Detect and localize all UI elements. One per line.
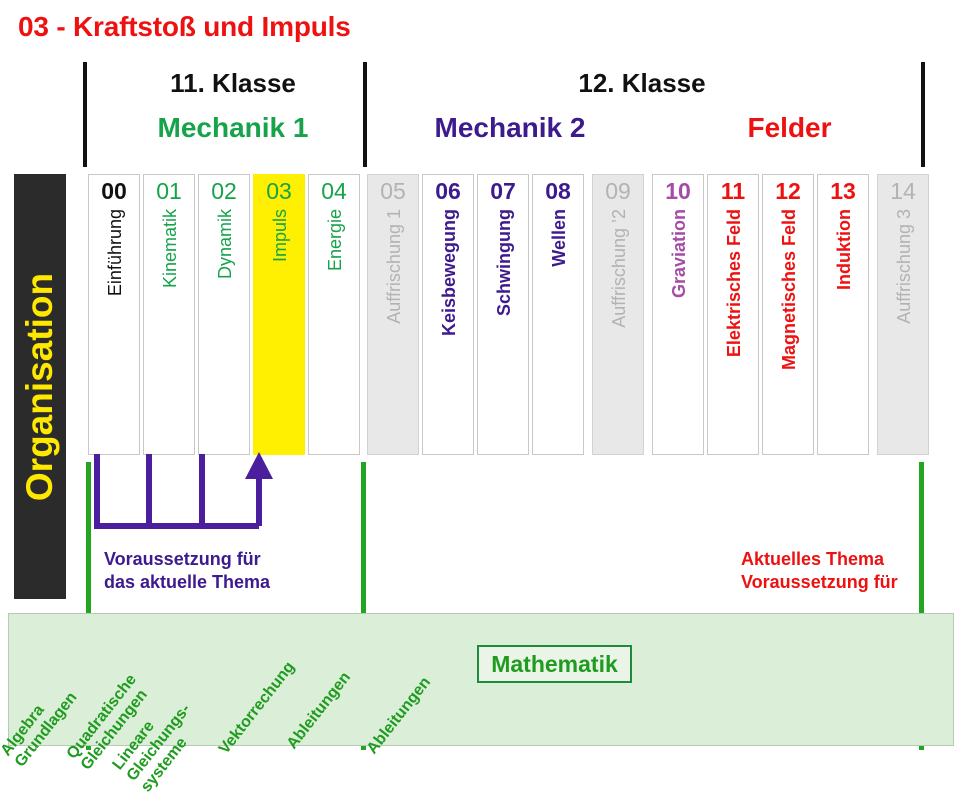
topic-name-14: Auffrischung 3 — [895, 209, 913, 324]
topic-name-04: Energie — [326, 209, 344, 271]
topic-name-wrap-03: Impuls — [254, 209, 306, 452]
organisation-label: Organisation — [19, 272, 61, 500]
organisation-sidebar[interactable]: Organisation — [14, 174, 66, 599]
topic-column-09[interactable]: 09 Auffrischung ’2 — [592, 174, 644, 455]
grade-label-11: 11. Klasse — [104, 68, 362, 99]
topic-name-wrap-05: Auffrischung 1 — [368, 209, 420, 452]
header-divider-right — [921, 62, 925, 167]
current-topic-caption-line2: Voraussetzung für — [741, 571, 898, 594]
topic-column-06[interactable]: 06 Keisbewegung — [422, 174, 474, 455]
topic-name-wrap-00: Einführung — [89, 209, 141, 452]
subject-label-mechanik-2: Mechanik 2 — [365, 112, 655, 144]
topic-column-08[interactable]: 08 Wellen — [532, 174, 584, 455]
topic-name-wrap-06: Keisbewegung — [423, 209, 475, 452]
topic-number-09: 09 — [593, 178, 643, 204]
topic-column-14[interactable]: 14 Auffrischung 3 — [877, 174, 929, 455]
prerequisite-caption: Voraussetzung für das aktuelle Thema — [104, 548, 270, 594]
topic-name-wrap-01: Kinematik — [144, 209, 196, 452]
current-topic-caption-line1: Aktuelles Thema — [741, 548, 898, 571]
topic-column-11[interactable]: 11 Elektrisches Feld — [707, 174, 759, 455]
mathematik-box-label: Mathematik — [479, 647, 630, 681]
topic-name-09: Auffrischung ’2 — [610, 209, 628, 328]
mathematik-box[interactable]: Mathematik — [477, 645, 632, 683]
prerequisite-caption-line2: das aktuelle Thema — [104, 571, 270, 594]
current-topic-caption: Aktuelles Thema Voraussetzung für — [741, 548, 898, 594]
topic-name-wrap-11: Elektrisches Feld — [708, 209, 760, 452]
topic-name-11: Elektrisches Feld — [725, 209, 743, 357]
topic-name-08: Wellen — [550, 209, 568, 267]
topic-name-wrap-14: Auffrischung 3 — [878, 209, 930, 452]
topic-number-13: 13 — [818, 178, 868, 204]
topic-number-11: 11 — [708, 178, 758, 204]
prerequisite-bracket — [86, 452, 306, 532]
topic-name-wrap-07: Schwingung — [478, 209, 530, 452]
topic-number-04: 04 — [309, 178, 359, 204]
topic-number-06: 06 — [423, 178, 473, 204]
topic-number-00: 00 — [89, 178, 139, 204]
topic-number-12: 12 — [763, 178, 813, 204]
topic-number-02: 02 — [199, 178, 249, 204]
topic-column-12[interactable]: 12 Magnetisches Feld — [762, 174, 814, 455]
topic-name-02: Dynamik — [216, 209, 234, 279]
prerequisite-caption-line1: Voraussetzung für — [104, 548, 270, 571]
topic-number-05: 05 — [368, 178, 418, 204]
header-divider-left — [83, 62, 87, 167]
page-title: 03 - Kraftstoß und Impuls — [18, 11, 351, 43]
topic-name-06: Keisbewegung — [440, 209, 458, 336]
topic-number-01: 01 — [144, 178, 194, 204]
topic-name-wrap-09: Auffrischung ’2 — [593, 209, 645, 452]
topic-column-00[interactable]: 00 Einführung — [88, 174, 140, 455]
topic-name-wrap-02: Dynamik — [199, 209, 251, 452]
slide-canvas: 03 - Kraftstoß und Impuls 11. Klasse 12.… — [0, 0, 962, 750]
topic-name-wrap-04: Energie — [309, 209, 361, 452]
topic-name-wrap-13: Induktion — [818, 209, 870, 452]
topic-name-wrap-08: Wellen — [533, 209, 585, 452]
topic-number-08: 08 — [533, 178, 583, 204]
topic-name-13: Induktion — [835, 209, 853, 290]
topic-name-03: Impuls — [271, 209, 289, 262]
topic-name-12: Magnetisches Feld — [780, 209, 798, 370]
topic-column-01[interactable]: 01 Kinematik — [143, 174, 195, 455]
bracket-arrowhead — [245, 452, 273, 479]
topic-name-01: Kinematik — [161, 209, 179, 288]
topic-column-13[interactable]: 13 Induktion — [817, 174, 869, 455]
topic-column-03[interactable]: 03 Impuls — [253, 174, 305, 455]
topic-name-05: Auffrischung 1 — [385, 209, 403, 324]
topic-number-10: 10 — [653, 178, 703, 204]
topic-number-14: 14 — [878, 178, 928, 204]
topic-column-05[interactable]: 05 Auffrischung 1 — [367, 174, 419, 455]
subject-label-mechanik-1: Mechanik 1 — [104, 112, 362, 144]
topic-name-wrap-12: Magnetisches Feld — [763, 209, 815, 452]
topic-number-03: 03 — [254, 178, 304, 204]
topic-name-00: Einführung — [106, 209, 124, 296]
grade-label-12: 12. Klasse — [365, 68, 919, 99]
topic-name-wrap-10: Graviation — [653, 209, 705, 452]
topic-column-04[interactable]: 04 Energie — [308, 174, 360, 455]
topic-column-07[interactable]: 07 Schwingung — [477, 174, 529, 455]
topic-name-10: Graviation — [670, 209, 688, 298]
subject-label-felder: Felder — [660, 112, 919, 144]
topic-column-02[interactable]: 02 Dynamik — [198, 174, 250, 455]
topic-name-07: Schwingung — [495, 209, 513, 316]
topic-column-10[interactable]: 10 Graviation — [652, 174, 704, 455]
topic-number-07: 07 — [478, 178, 528, 204]
